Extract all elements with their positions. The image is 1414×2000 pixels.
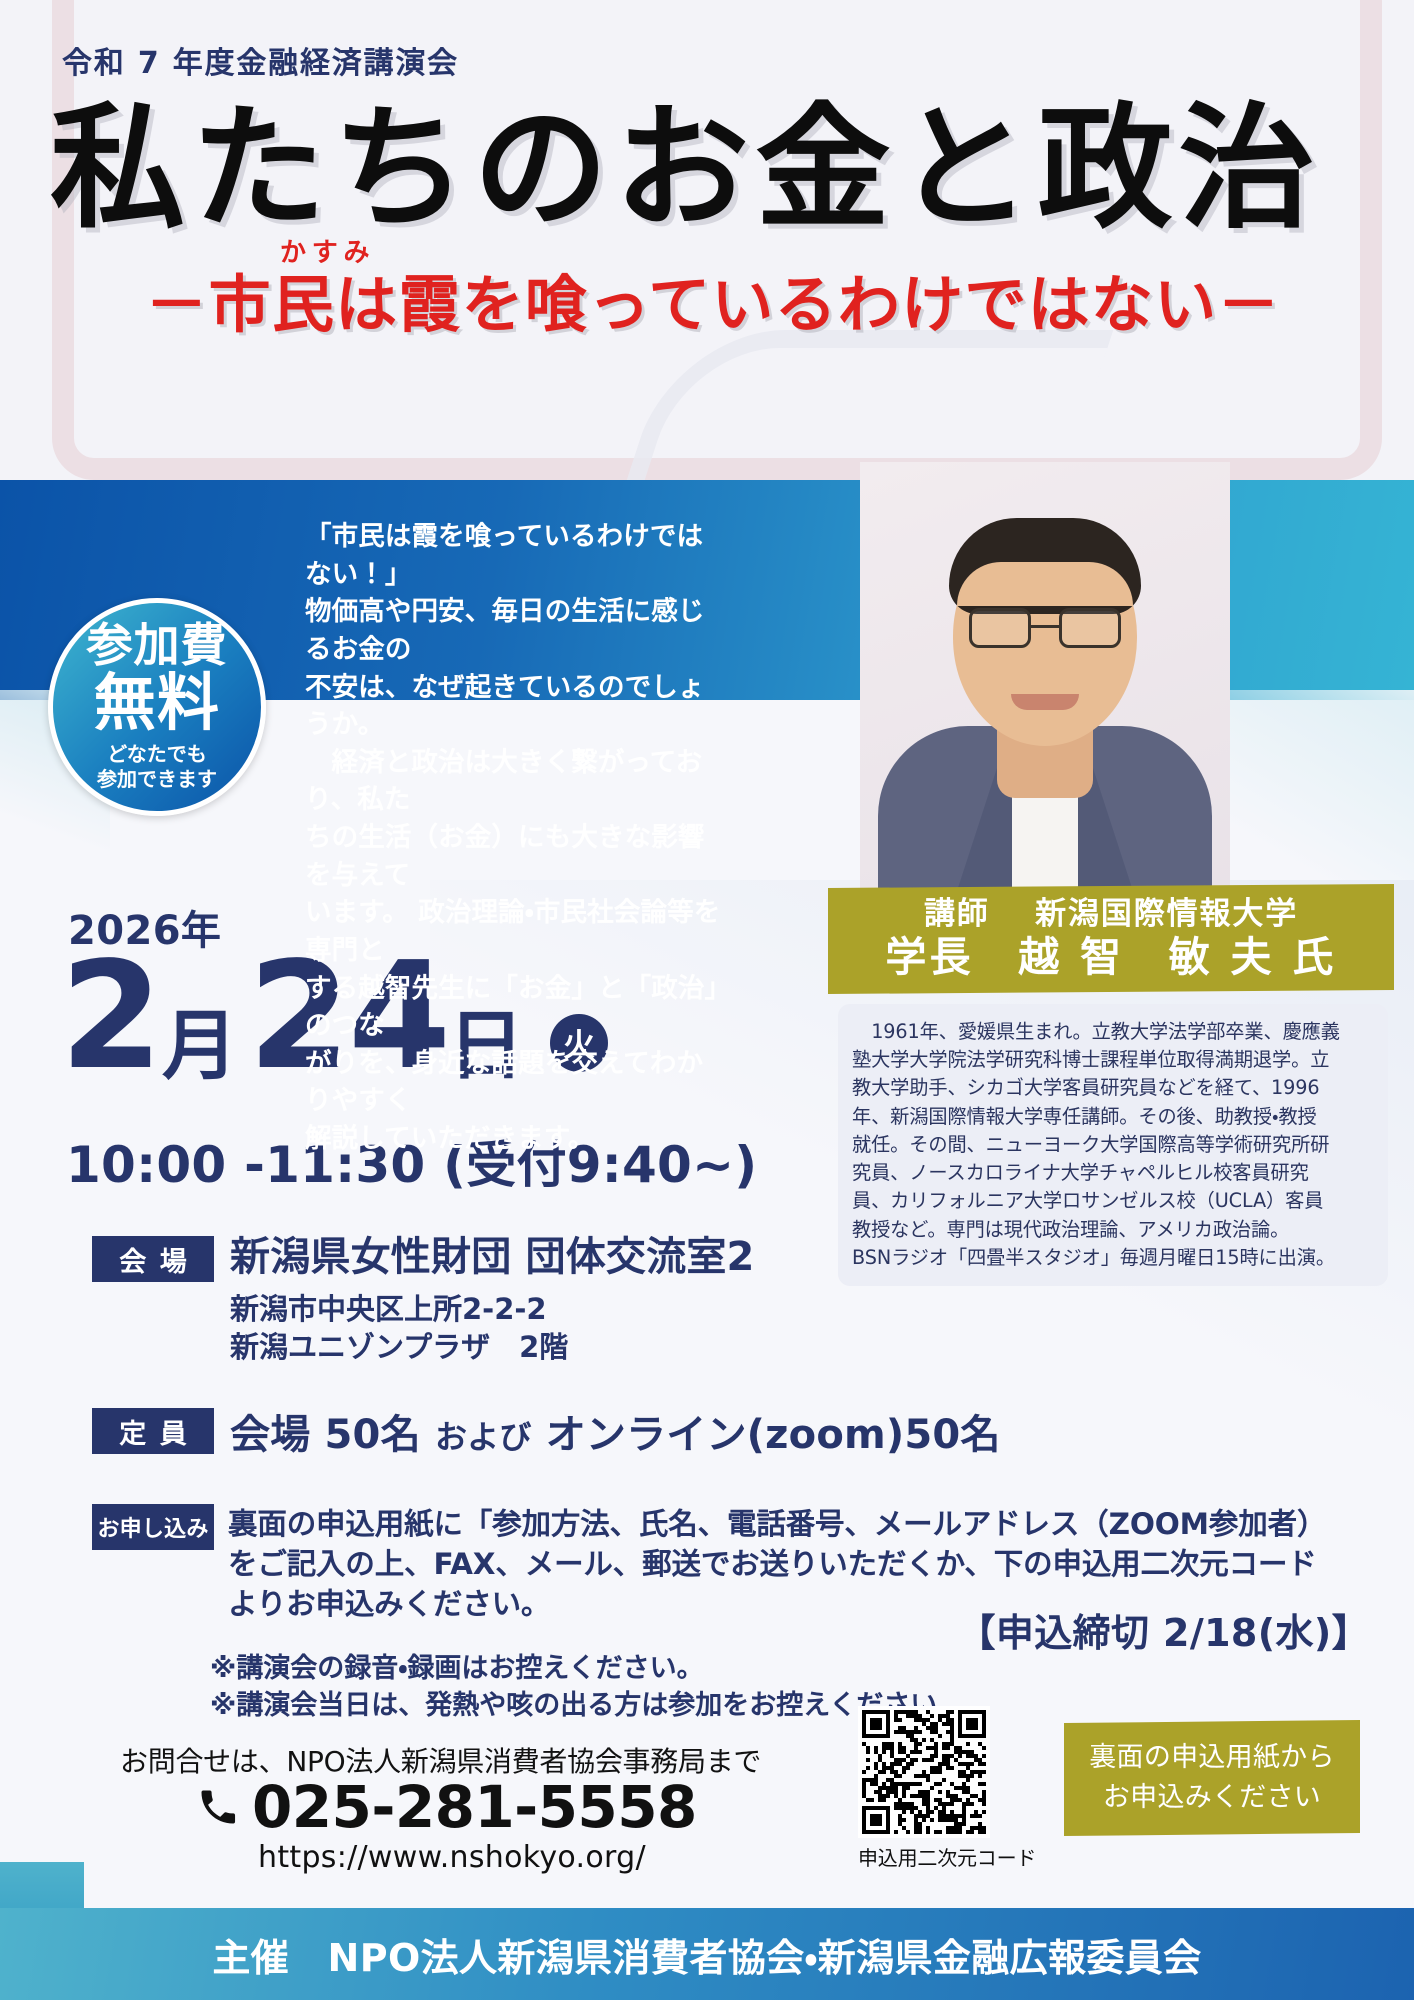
speaker-portrait-photo [860, 462, 1230, 894]
intro-line: います。 政治理論・市民社会論等を専門と [305, 894, 725, 969]
intro-line: 経済と政治は大きく繋がっており、私た [305, 744, 725, 819]
badge-free-label: 無料 [94, 670, 220, 735]
venue-address-line2: 新潟ユニゾンプラザ 2階 [230, 1328, 568, 1366]
bio-line: 教大学助手、シカゴ大学客員研究員などを経て、1996 [852, 1074, 1372, 1102]
contact-phone-row[interactable]: 025-281-5558 [196, 1778, 697, 1836]
application-deadline: 【申込締切 2/18(水)】 [958, 1602, 1371, 1657]
intro-line: 解説していただきます。 [305, 1120, 725, 1158]
intro-line: 物価高や円安、毎日の生活に感じるお金の [305, 593, 725, 668]
capacity-onsite: 会場 50名 [230, 1412, 421, 1458]
glasses-icon [969, 608, 1121, 648]
venue-row: 会場 新潟県女性財団 団体交流室2 [92, 1236, 755, 1282]
badge-note-line1: どなたでも [107, 742, 207, 766]
intro-line: 不安は、なぜ起きているのでしょうか。 [305, 669, 725, 744]
footer-host-text: 主催 NPO法人新潟県消費者協会・新潟県金融広報委員会 [212, 1927, 1201, 1982]
intro-line: がりを、身近な話題を交えてわかりやすく [305, 1045, 725, 1120]
badge-note-line2: 参加できます [97, 767, 217, 791]
portrait-hair [949, 518, 1141, 614]
contact-website-url[interactable]: https://www.nshokyo.org/ [258, 1840, 646, 1875]
speaker-name: 学長 越 智 敏 夫 氏 [885, 934, 1336, 981]
event-series-kicker: 令和 7 年度金融経済講演会 [62, 38, 459, 82]
capacity-row: 定員 会場 50名 および オンライン(zoom)50名 [92, 1402, 1001, 1460]
application-line2: をご記入の上、FAX、メール、郵送でお送りいただくか、下の申込用二次元コード [228, 1544, 1414, 1584]
badge-note: どなたでも 参加できます [97, 742, 217, 792]
free-admission-badge: 参加費 無料 どなたでも 参加できます [48, 598, 266, 816]
speaker-name-banner: 講師 新潟国際情報大学 学長 越 智 敏 夫 氏 [828, 884, 1394, 994]
subtitle-group: かすみ －市民は霞を喰っているわけではない－ [58, 248, 1368, 348]
back-form-line1: 裏面の申込用紙から [1089, 1738, 1334, 1779]
capacity-online: オンライン(zoom)50名 [546, 1412, 1001, 1458]
application-note-1: ※講演会の録音・録画はお控えください。 [210, 1650, 964, 1687]
event-month-number: 2 [60, 948, 160, 1084]
application-notes: ※講演会の録音・録画はお控えください。 ※講演会当日は、発熱や咳の出る方は参加を… [210, 1650, 964, 1725]
bio-line: 究員、ノースカロライナ大学チャペルヒル校客員研究 [852, 1159, 1372, 1187]
page-subtitle: －市民は霞を喰っているわけではない－ [58, 254, 1368, 344]
bio-line: 塾大学大学院法学研究科博士課程単位取得満期退学。立 [852, 1046, 1372, 1074]
footer-band: 主催 NPO法人新潟県消費者協会・新潟県金融広報委員会 [0, 1908, 1414, 2000]
speaker-affiliation: 講師 新潟国際情報大学 [924, 897, 1298, 933]
venue-name: 新潟県女性財団 団体交流室2 [230, 1236, 755, 1279]
right-diagonal-decoration [1214, 690, 1414, 880]
capacity-conjunction: および [435, 1418, 532, 1456]
back-form-banner: 裏面の申込用紙から お申込みください [1064, 1720, 1360, 1836]
bio-line: 教授など。専門は現代政治理論、アメリカ政治論。 [852, 1216, 1372, 1244]
capacity-tag: 定員 [92, 1408, 214, 1454]
portrait-smile [1011, 694, 1079, 710]
intro-line: ちの生活（お金）にも大きな影響を与えて [305, 819, 725, 894]
event-poster: 令和 7 年度金融経済講演会 私たちのお金と政治 かすみ －市民は霞を喰っている… [0, 0, 1414, 2000]
application-qr-block: 申込用二次元コード [858, 1706, 990, 1871]
bio-line: 員、カリフォルニア大学ロサンゼルス校（UCLA）客員 [852, 1187, 1372, 1215]
phone-icon [196, 1785, 240, 1829]
application-tag: お申し込み [92, 1504, 214, 1550]
intro-description: 「市民は霞を喰っているわけではない！」 物価高や円安、毎日の生活に感じるお金の … [305, 518, 725, 1158]
poster-header: 令和 7 年度金融経済講演会 私たちのお金と政治 かすみ －市民は霞を喰っている… [0, 0, 1414, 480]
back-form-line2: お申込みください [1103, 1778, 1321, 1819]
page-title: 私たちのお金と政治 [50, 96, 1370, 242]
bio-line: BSNラジオ「四畳半スタジオ」毎週月曜日15時に出演。 [852, 1244, 1372, 1272]
intro-line: 「市民は霞を喰っているわけではない！」 [305, 518, 725, 593]
capacity-text: 会場 50名 および オンライン(zoom)50名 [230, 1402, 1001, 1460]
venue-tag: 会場 [92, 1236, 214, 1282]
bio-line: 1961年、愛媛県生まれ。立教大学法学部卒業、慶應義 [852, 1018, 1372, 1046]
venue-address-line1: 新潟市中央区上所2-2-2 [230, 1290, 568, 1328]
badge-fee-label: 参加費 [87, 622, 228, 668]
qr-code[interactable] [858, 1706, 990, 1838]
bio-line: 就任。その間、ニューヨーク大学国際高等学術研究所研 [852, 1131, 1372, 1159]
bio-line: 年、新潟国際情報大学専任講師。その後、助教授・教授 [852, 1103, 1372, 1131]
contact-phone-number: 025-281-5558 [252, 1778, 697, 1836]
intro-line: する越智先生に「お金」と「政治」のつな [305, 970, 725, 1045]
application-note-2: ※講演会当日は、発熱や咳の出る方は参加をお控えください。 [210, 1687, 964, 1724]
venue-address: 新潟市中央区上所2-2-2 新潟ユニゾンプラザ 2階 [230, 1290, 568, 1367]
event-month-unit: 月 [162, 1008, 238, 1084]
application-line1: 裏面の申込用紙に「参加方法、氏名、電話番号、メールアドレス（ZOOM参加者） [228, 1504, 1414, 1544]
qr-code-caption: 申込用二次元コード [858, 1842, 990, 1871]
speaker-biography: 1961年、愛媛県生まれ。立教大学法学部卒業、慶應義 塾大学大学院法学研究科博士… [838, 1004, 1388, 1286]
